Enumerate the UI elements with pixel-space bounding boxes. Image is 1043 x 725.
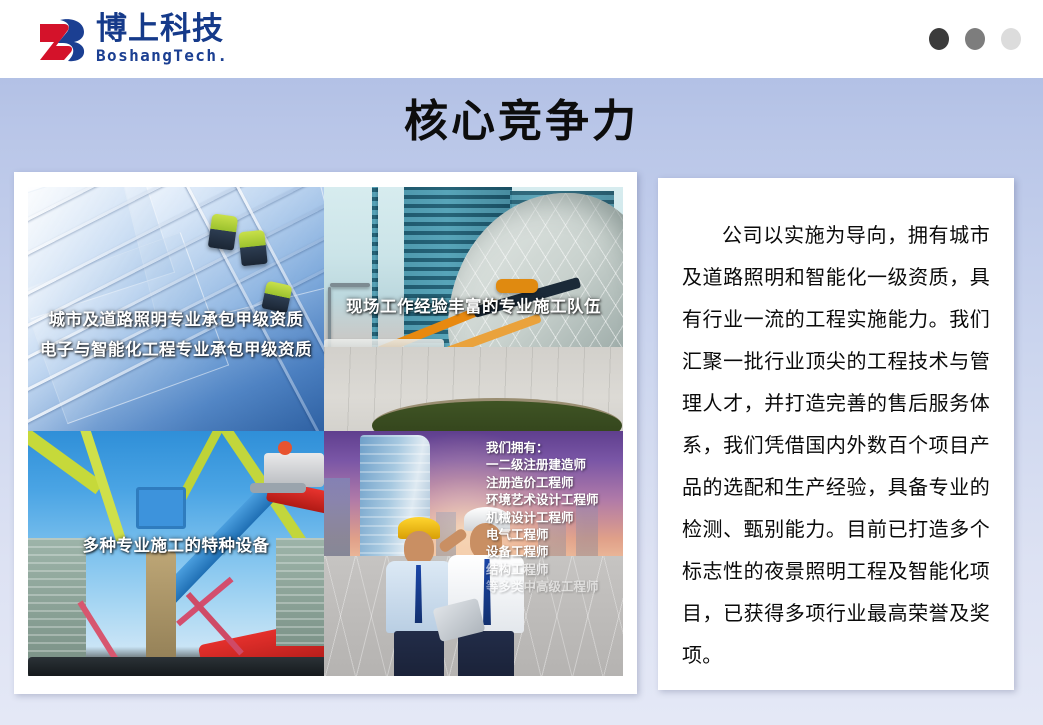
header-bar: 博上科技 BoshangTech. xyxy=(0,0,1043,78)
photo-site-team: 现场工作经验丰富的专业施工队伍 xyxy=(324,187,623,431)
company-logo[interactable]: 博上科技 BoshangTech. xyxy=(38,12,228,66)
worker-figure xyxy=(261,281,292,314)
photo-glass-facade: 城市及道路照明专业承包甲级资质 电子与智能化工程专业承包甲级资质 xyxy=(28,187,324,431)
boshang-b-logo-icon xyxy=(38,16,90,62)
logo-wordmark: 博上科技 BoshangTech. xyxy=(96,14,228,64)
window-controls[interactable] xyxy=(929,28,1021,50)
skill-item: 机械设计工程师 xyxy=(486,509,599,526)
skill-item: 结构工程师 xyxy=(486,561,599,578)
worker-figure xyxy=(208,213,238,250)
page-title: 核心竞争力 xyxy=(0,98,1043,146)
description-text: 公司以实施为导向，拥有城市及道路照明和智能化一级资质，具有行业一流的工程实施能力… xyxy=(682,214,990,676)
skills-heading: 我们拥有： xyxy=(486,439,599,456)
skill-item: 环境艺术设计工程师 xyxy=(486,491,599,508)
logo-name-cn: 博上科技 xyxy=(96,14,228,45)
window-dot-3[interactable] xyxy=(1001,28,1021,50)
worker-figure xyxy=(238,230,267,267)
logo-name-en: BoshangTech. xyxy=(96,48,228,64)
skill-item: 设备工程师 xyxy=(486,543,599,560)
presentation-slide: 博上科技 BoshangTech. 核心竞争力 xyxy=(0,0,1043,725)
skill-item: 一二级注册建造师 xyxy=(486,456,599,473)
photo-engineers: 我们拥有： 一二级注册建造师 注册造价工程师 环境艺术设计工程师 机械设计工程师… xyxy=(324,431,623,676)
window-dot-1[interactable] xyxy=(929,28,949,50)
window-dot-2[interactable] xyxy=(965,28,985,50)
skills-list: 我们拥有： 一二级注册建造师 注册造价工程师 环境艺术设计工程师 机械设计工程师… xyxy=(486,439,599,596)
skill-item: 等多类中高级工程师 xyxy=(486,578,599,595)
photo-collage-panel: 城市及道路照明专业承包甲级资质 电子与智能化工程专业承包甲级资质 xyxy=(14,172,637,694)
photo-grid: 城市及道路照明专业承包甲级资质 电子与智能化工程专业承包甲级资质 xyxy=(28,187,623,676)
photo-special-equipment: 多种专业施工的特种设备 xyxy=(28,431,324,676)
skill-item: 注册造价工程师 xyxy=(486,474,599,491)
description-panel: 公司以实施为导向，拥有城市及道路照明和智能化一级资质，具有行业一流的工程实施能力… xyxy=(658,178,1014,690)
skill-item: 电气工程师 xyxy=(486,526,599,543)
